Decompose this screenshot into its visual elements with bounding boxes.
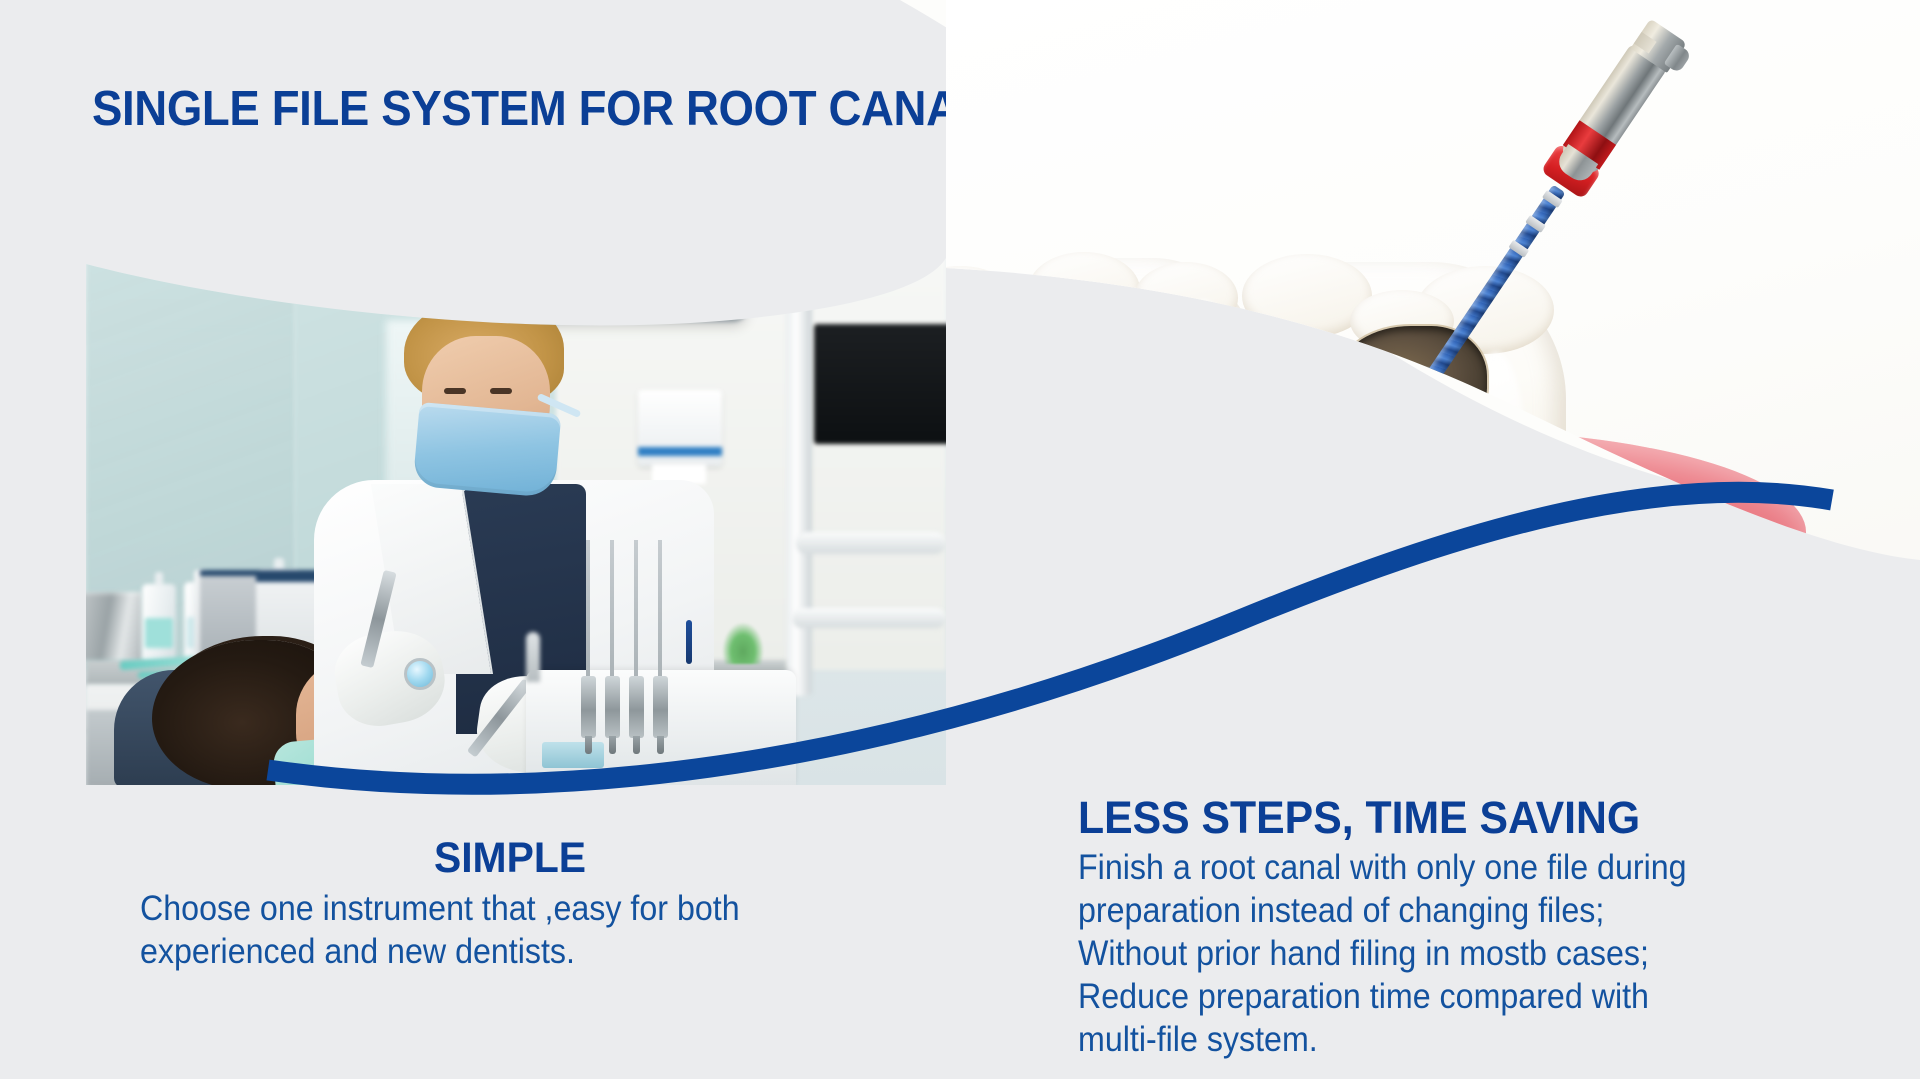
handpiece-tip	[609, 736, 616, 754]
potted-plant	[722, 622, 764, 664]
handpiece-tip	[585, 736, 592, 754]
file-tip	[1364, 436, 1395, 475]
pulp-chamber	[1376, 366, 1448, 414]
wall-monitor	[814, 324, 946, 444]
surgical-mask	[413, 402, 562, 498]
column-simple: SIMPLE Choose one instrument that ,easy …	[140, 834, 880, 974]
equipment-pole	[786, 276, 812, 696]
handpiece-tip	[633, 736, 640, 754]
dentist-eye-right	[490, 388, 512, 394]
tooth-cusp	[1028, 252, 1140, 328]
light-arm-left-lower	[468, 266, 484, 310]
column-simple-body: Choose one instrument that ,easy for bot…	[140, 887, 821, 974]
arm-rail-2	[792, 608, 946, 628]
molar-tooth	[946, 272, 1076, 602]
handpiece-hose	[658, 540, 662, 680]
molar-tooth	[1016, 258, 1261, 618]
tooth-cusp	[946, 266, 1020, 344]
handpiece-hose	[634, 540, 638, 682]
operatory-light	[516, 240, 746, 322]
ceiling-light	[206, 268, 396, 290]
dental-clinic-photo	[86, 240, 946, 785]
poster-root: SINGLE FILE SYSTEM FOR ROOT CANAL PREPAR…	[0, 0, 1920, 1079]
handpiece-tip	[657, 736, 664, 754]
light-arm-right-lower	[783, 261, 806, 311]
column-simple-kicker: SIMPLE	[159, 834, 862, 883]
dental-mirror-head	[404, 658, 436, 690]
handpiece	[581, 676, 596, 738]
handpiece-hose	[586, 540, 590, 678]
enamel-highlight	[1182, 300, 1226, 396]
handpiece	[629, 676, 644, 738]
steel-canister	[86, 592, 142, 660]
enamel-highlight	[1278, 370, 1374, 570]
pocket-pen	[686, 620, 692, 664]
handpiece	[605, 676, 620, 738]
arm-rail	[796, 532, 946, 554]
column-less-steps-kicker: LESS STEPS, TIME SAVING	[1078, 792, 1800, 844]
light-arm-left	[481, 240, 540, 271]
handpiece	[653, 676, 668, 738]
enamel-highlight	[1056, 330, 1148, 480]
light-arm-right	[725, 240, 800, 272]
tooth-endodontic-file-illustration	[946, 0, 1920, 790]
column-less-steps: LESS STEPS, TIME SAVING Finish a root ca…	[1078, 792, 1838, 1061]
paper-towel-dispenser	[638, 390, 722, 466]
sanitizer-bottle	[142, 584, 176, 662]
control-touchpad	[542, 742, 604, 768]
suction-arm	[526, 632, 540, 682]
column-less-steps-body: Finish a root canal with only one file d…	[1078, 846, 1777, 1061]
enamel-highlight	[946, 300, 996, 420]
handpiece-hose	[610, 540, 614, 680]
irrigation-fluid	[1350, 399, 1399, 700]
dentist-eye-left	[444, 388, 466, 394]
